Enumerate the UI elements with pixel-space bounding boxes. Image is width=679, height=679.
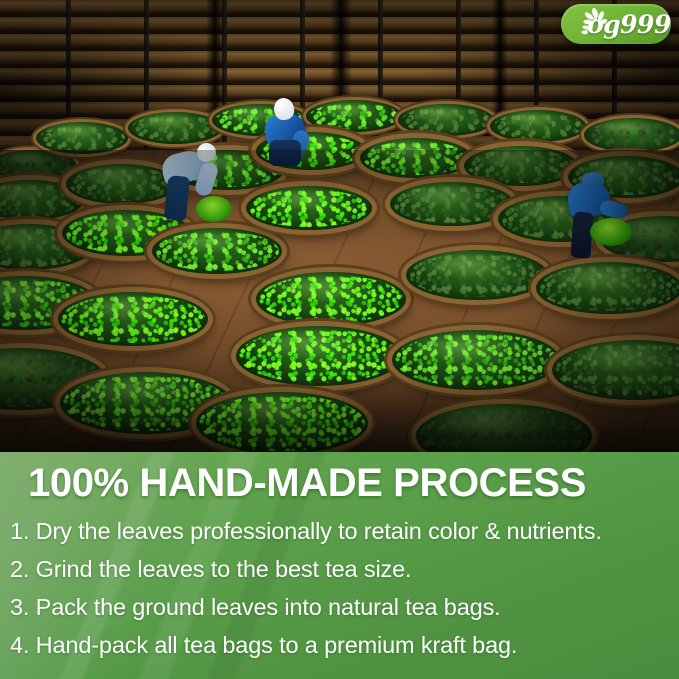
- brand-name: og999: [587, 11, 671, 39]
- tea-tray: [306, 100, 402, 132]
- process-banner: 100% HAND-MADE PROCESS 1. Dry the leaves…: [0, 452, 679, 679]
- tea-tray: [584, 118, 679, 152]
- process-steps-list: 1. Dry the leaves professionally to reta…: [10, 512, 678, 664]
- list-item: 3. Pack the ground leaves into natural t…: [10, 588, 678, 626]
- product-infographic: og999 100% HAND-MADE PROCESS 1. Dry the …: [0, 0, 679, 679]
- tea-tray: [490, 110, 586, 142]
- banner-title: 100% HAND-MADE PROCESS: [28, 461, 586, 506]
- factory-photo: [0, 0, 679, 452]
- list-item: 1. Dry the leaves professionally to reta…: [10, 512, 678, 550]
- tea-tray: [398, 104, 494, 136]
- list-item: 2. Grind the leaves to the best tea size…: [10, 550, 678, 588]
- brand-logo[interactable]: og999: [561, 4, 671, 44]
- list-item: 4. Hand-pack all tea bags to a premium k…: [10, 626, 678, 664]
- photo-bottom-fade: [0, 382, 679, 452]
